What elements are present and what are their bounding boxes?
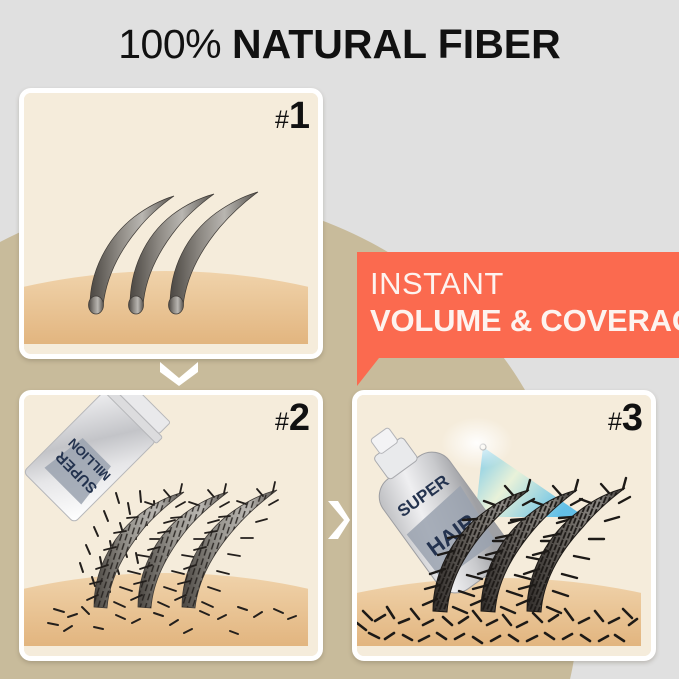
panel-2-illustration: SUPER MILLION [24, 395, 308, 646]
badge-number: 2 [289, 397, 309, 439]
infographic-stage: 100% NATURAL FIBER [0, 0, 679, 679]
step-badge-1: #1 [275, 97, 309, 135]
badge-hash: # [275, 106, 289, 134]
panel-step-1: #1 [19, 88, 323, 359]
panel-step-2: SUPER MILLION [19, 390, 323, 661]
spray-mist [441, 417, 513, 469]
panel-3-artwork: SUPER HAIR [357, 395, 651, 656]
panel-1-artwork [24, 93, 318, 354]
hair-root [129, 296, 144, 314]
chevron-down-icon [156, 358, 202, 386]
title-emphasis: NATURAL FIBER [232, 21, 561, 67]
panel-step-3: SUPER HAIR [352, 390, 656, 661]
step-badge-2: #2 [275, 399, 309, 437]
chevron-right-icon [324, 497, 350, 543]
panel-2-artwork: SUPER MILLION [24, 395, 318, 656]
step-badge-3: #3 [608, 399, 642, 437]
hair-root [89, 296, 104, 314]
badge-hash: # [275, 408, 289, 436]
panel-1-illustration [24, 93, 308, 344]
scalp-shape [24, 271, 308, 344]
callout-line-2: VOLUME & COVERAGE [370, 302, 671, 340]
callout-text: INSTANT VOLUME & COVERAGE [370, 266, 671, 340]
scalp-shape [24, 573, 308, 646]
callout-tail [357, 358, 379, 386]
panel-3-illustration: SUPER HAIR [357, 395, 641, 646]
badge-number: 1 [289, 95, 309, 137]
badge-hash: # [608, 408, 622, 436]
title-percent: 100% [118, 21, 221, 67]
badge-number: 3 [622, 397, 642, 439]
hair-root [169, 296, 184, 314]
callout-line-1: INSTANT [370, 266, 671, 302]
page-title: 100% NATURAL FIBER [0, 22, 679, 66]
